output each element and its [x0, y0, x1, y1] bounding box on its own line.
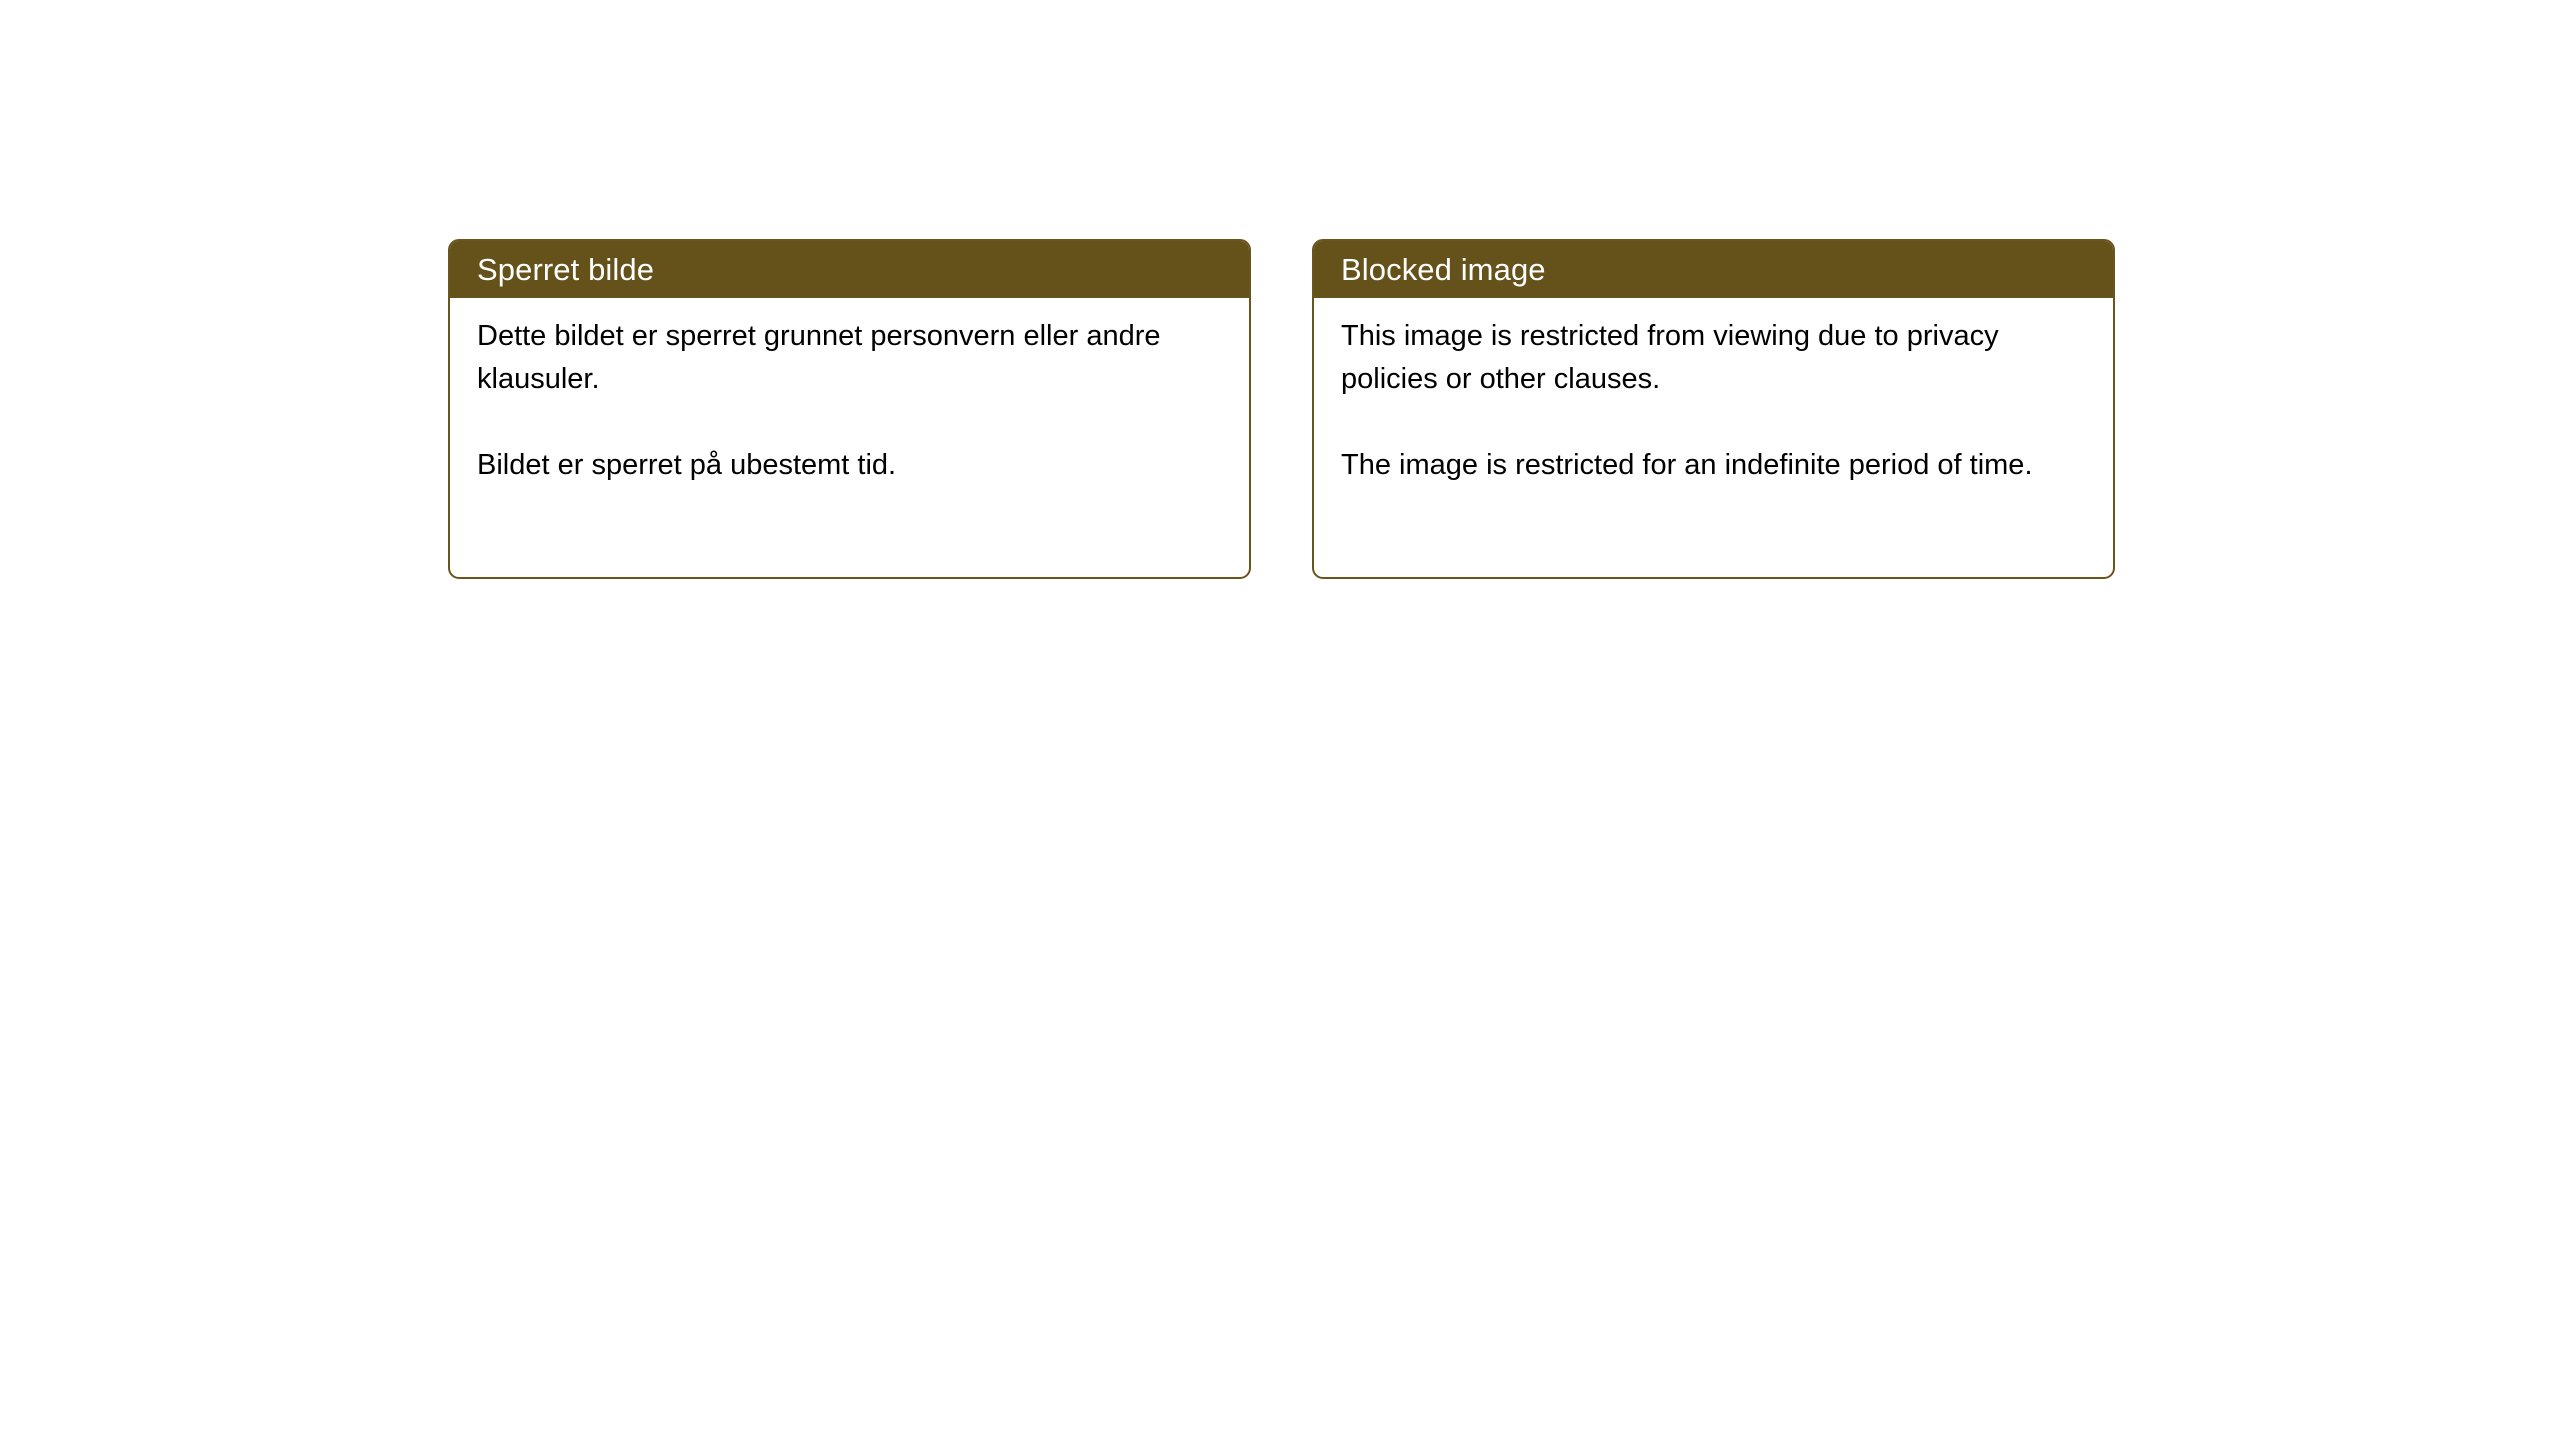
card-paragraph-en-2: The image is restricted for an indefinit…: [1341, 444, 2089, 487]
card-paragraph-no-2: Bildet er sperret på ubestemt tid.: [477, 444, 1225, 487]
card-header-no: Sperret bilde: [448, 239, 1251, 298]
page-canvas: Sperret bilde Dette bildet er sperret gr…: [0, 0, 2560, 1440]
card-body-en: This image is restricted from viewing du…: [1314, 298, 2113, 487]
card-title-en: Blocked image: [1341, 253, 1546, 287]
card-paragraph-no-1: Dette bildet er sperret grunnet personve…: [477, 315, 1225, 401]
card-body-no: Dette bildet er sperret grunnet personve…: [450, 298, 1249, 487]
card-title-no: Sperret bilde: [477, 253, 654, 287]
blocked-image-notice-card-no: Sperret bilde Dette bildet er sperret gr…: [448, 239, 1251, 579]
card-header-en: Blocked image: [1312, 239, 2115, 298]
blocked-image-notice-card-en: Blocked image This image is restricted f…: [1312, 239, 2115, 579]
card-paragraph-en-1: This image is restricted from viewing du…: [1341, 315, 2089, 401]
